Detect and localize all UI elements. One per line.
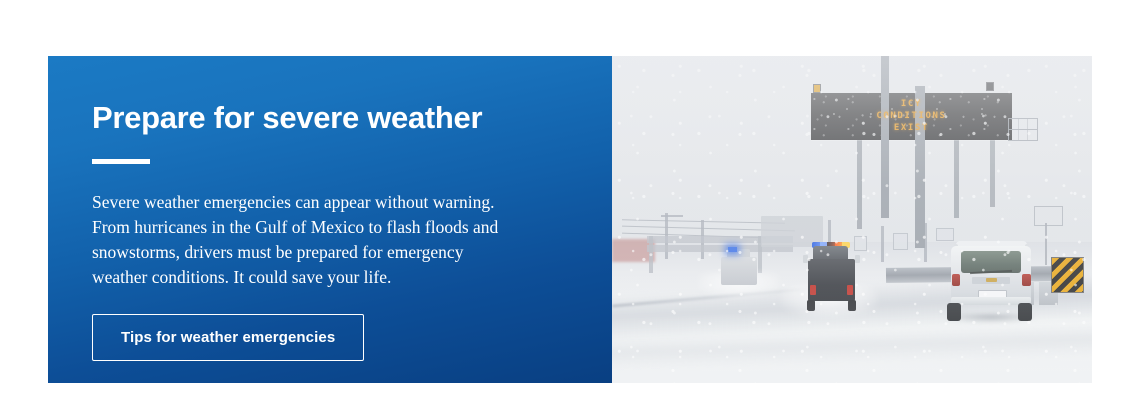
sign-camera bbox=[986, 82, 994, 91]
vehicle-emblem bbox=[986, 278, 997, 283]
page-root: Prepare for severe weather Severe weathe… bbox=[0, 0, 1140, 415]
sign-support-post bbox=[990, 132, 995, 208]
roadside-sign bbox=[1034, 206, 1062, 226]
sign-maintenance-catwalk bbox=[1008, 118, 1038, 142]
sign-marker-light bbox=[813, 84, 821, 93]
tail-light bbox=[1022, 274, 1031, 286]
white-suv bbox=[943, 229, 1039, 321]
message-sign-line-2: CONDITIONS bbox=[876, 111, 946, 122]
tail-light bbox=[810, 285, 816, 295]
tail-light bbox=[952, 274, 961, 286]
severe-weather-banner: Prepare for severe weather Severe weathe… bbox=[48, 56, 1092, 383]
message-sign-line-1: ICY bbox=[901, 99, 922, 110]
tips-for-weather-emergencies-button[interactable]: Tips for weather emergencies bbox=[92, 314, 364, 361]
title-underline-rule bbox=[92, 159, 150, 164]
plow-body bbox=[721, 257, 757, 285]
banner-content: Prepare for severe weather Severe weathe… bbox=[92, 100, 572, 361]
sign-support-post bbox=[857, 132, 862, 229]
truck-wheel bbox=[807, 300, 815, 311]
roadside-sign bbox=[893, 233, 908, 250]
message-sign-line-3: EXIST bbox=[894, 123, 929, 134]
description-line: snowstorms, drivers must be prepared for… bbox=[92, 240, 562, 265]
suv-wheel bbox=[947, 303, 961, 321]
message-sign-text: ICY CONDITIONS EXIST bbox=[811, 93, 1013, 140]
chevron-hazard-marker bbox=[1051, 257, 1084, 293]
emergency-pickup-truck bbox=[799, 242, 864, 311]
banner-text-panel: Prepare for severe weather Severe weathe… bbox=[48, 56, 612, 383]
sign-support-post bbox=[954, 132, 959, 218]
banner-description: Severe weather emergencies can appear wi… bbox=[92, 190, 562, 290]
truck-wheel bbox=[848, 300, 856, 311]
description-line: weather conditions. It could save your l… bbox=[92, 265, 562, 290]
side-mirror bbox=[855, 255, 860, 263]
gantry-leg bbox=[649, 236, 653, 273]
snowy-highway-photo: ICY CONDITIONS EXIST bbox=[612, 56, 1092, 383]
plow-warning-light bbox=[728, 247, 737, 251]
truck-bed bbox=[808, 259, 855, 302]
overhead-message-sign: ICY CONDITIONS EXIST bbox=[833, 69, 1035, 177]
utility-pole bbox=[881, 226, 884, 262]
description-line: Severe weather emergencies can appear wi… bbox=[92, 190, 562, 215]
page-title: Prepare for severe weather bbox=[92, 100, 572, 136]
message-sign-board: ICY CONDITIONS EXIST bbox=[811, 93, 1013, 140]
distant-snow-plow bbox=[718, 247, 761, 290]
sign-post bbox=[1045, 223, 1047, 266]
description-line: From hurricanes in the Gulf of Mexico to… bbox=[92, 215, 562, 240]
suv-wheel bbox=[1018, 303, 1032, 321]
tail-light bbox=[847, 285, 853, 295]
